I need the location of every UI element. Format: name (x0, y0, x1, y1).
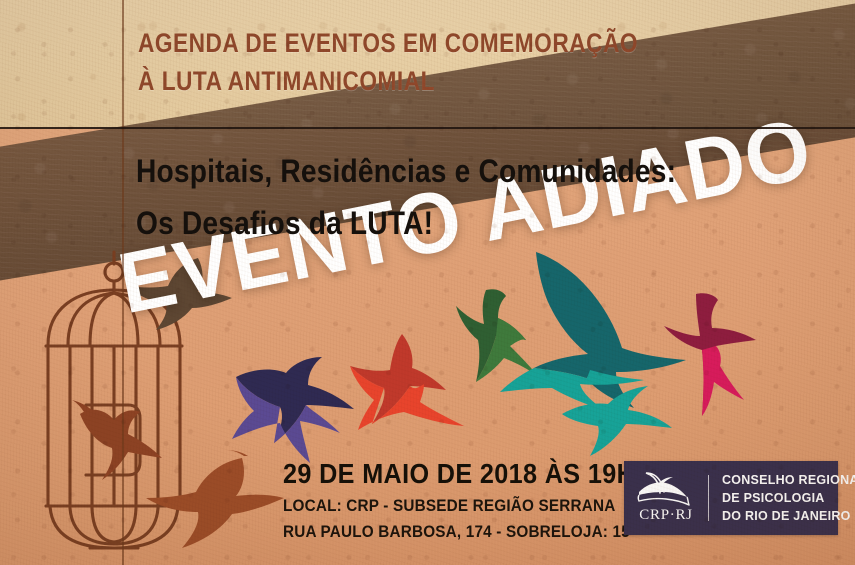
logo-line-1: CONSELHO REGIONAL (722, 471, 855, 489)
logo-text: CONSELHO REGIONAL DE PSICOLOGIA DO RIO D… (709, 471, 855, 525)
logo-line-2: DE PSICOLOGIA (722, 489, 855, 507)
title-line-1: Hospitais, Residências e Comunidades: (136, 153, 676, 189)
poster-title: Hospitais, Residências e Comunidades: Os… (136, 146, 717, 250)
horizontal-rule (0, 127, 855, 129)
vertical-rule (122, 0, 124, 565)
header-line-1: AGENDA DE EVENTOS EM COMEMORAÇÃO (138, 28, 638, 58)
crp-rj-logo: CRP·RJ CONSELHO REGIONAL DE PSICOLOGIA D… (624, 461, 838, 535)
title-line-2: Os Desafios da LUTA! (136, 198, 717, 250)
bird-teal-small-low (556, 380, 676, 465)
event-date: 29 DE MAIO DE 2018 ÀS 19H (283, 458, 635, 490)
event-venue: LOCAL: CRP - SUBSEDE REGIÃO SERRANA (283, 496, 615, 516)
header-line-2: À LUTA ANTIMANICOMIAL (138, 62, 676, 100)
event-address: RUA PAULO BARBOSA, 174 - SOBRELOJA: 15 (283, 522, 630, 542)
crp-rj-acronym: CRP·RJ (639, 507, 692, 524)
bird-crimson (660, 292, 775, 427)
poster-header: AGENDA DE EVENTOS EM COMEMORAÇÃO À LUTA … (138, 24, 676, 101)
event-poster: EVENTO ADIADO AGENDA DE EVENTOS EM COMEM… (0, 0, 855, 565)
crp-rj-book-icon: CRP·RJ (624, 461, 708, 535)
logo-line-3: DO RIO DE JANEIRO (722, 507, 855, 525)
